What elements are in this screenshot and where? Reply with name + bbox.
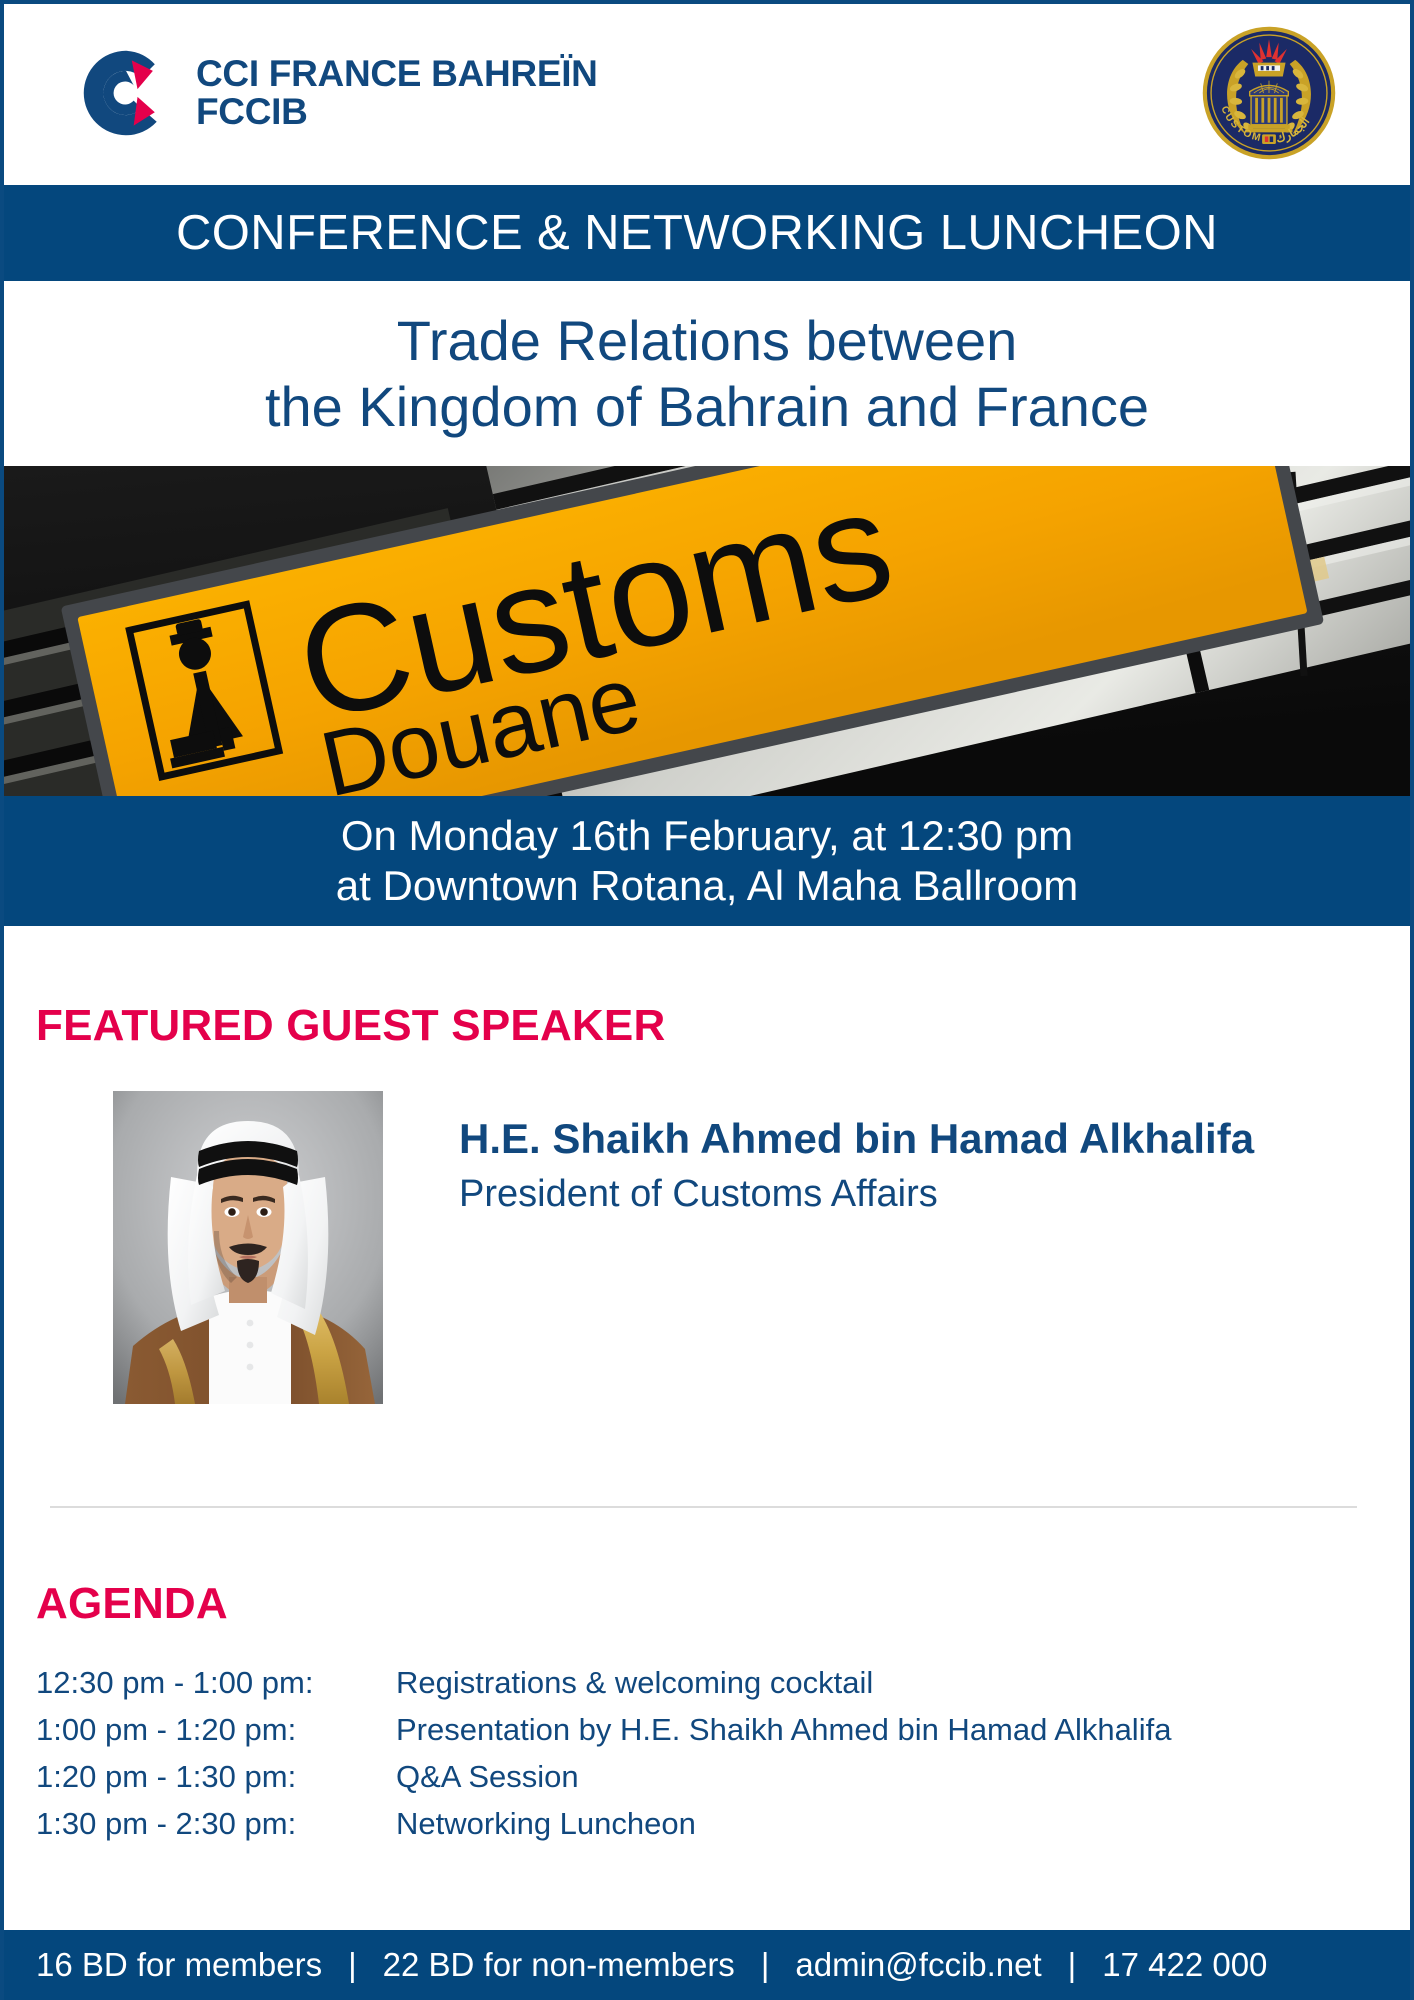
speaker-name: H.E. Shaikh Ahmed bin Hamad Alkhalifa — [459, 1113, 1254, 1166]
event-type-banner: CONFERENCE & NETWORKING LUNCHEON — [0, 185, 1414, 281]
agenda-item: 1:20 pm - 1:30 pm: Q&A Session — [36, 1753, 1171, 1800]
cci-logo-wordmark: CCI FRANCE BAHREÏN FCCIB — [196, 55, 598, 130]
featured-speaker-row: H.E. Shaikh Ahmed bin Hamad Alkhalifa Pr… — [0, 1091, 1414, 1404]
speaker-details: H.E. Shaikh Ahmed bin Hamad Alkhalifa Pr… — [459, 1091, 1254, 1223]
contact-email[interactable]: admin@fccib.net — [795, 1946, 1041, 1984]
bahrain-customs-seal: CUSTOMS الجمارك — [1200, 24, 1338, 162]
agenda-item: 12:30 pm - 1:00 pm: Registrations & welc… — [36, 1659, 1171, 1706]
title-line-1: Trade Relations between — [397, 308, 1018, 374]
speaker-role: President of Customs Affairs — [459, 1166, 1254, 1223]
footer-info: 16 BD for members | 22 BD for non-member… — [36, 1946, 1267, 1984]
venue-line: at Downtown Rotana, Al Maha Ballroom — [336, 861, 1078, 911]
agenda-item-time: 12:30 pm - 1:00 pm: — [36, 1659, 396, 1706]
agenda-item-time: 1:30 pm - 2:30 pm: — [36, 1800, 396, 1847]
cci-logo-line2: FCCIB — [196, 93, 598, 131]
price-non-members: 22 BD for non-members — [383, 1946, 735, 1984]
speaker-portrait — [113, 1091, 383, 1404]
section-divider — [50, 1506, 1357, 1508]
agenda-item-desc: Q&A Session — [396, 1753, 579, 1800]
footer-separator: | — [1042, 1946, 1103, 1984]
poster-body: FEATURED GUEST SPEAKER — [0, 926, 1414, 1930]
price-members: 16 BD for members — [36, 1946, 322, 1984]
agenda-item-time: 1:20 pm - 1:30 pm: — [36, 1753, 396, 1800]
bahrain-customs-seal-icon: CUSTOMS الجمارك — [1200, 24, 1338, 162]
footer-separator: | — [735, 1946, 796, 1984]
title-line-2: the Kingdom of Bahrain and France — [265, 374, 1149, 440]
contact-phone[interactable]: 17 422 000 — [1102, 1946, 1267, 1984]
footer-separator: | — [322, 1946, 383, 1984]
agenda-item-desc: Presentation by H.E. Shaikh Ahmed bin Ha… — [396, 1706, 1171, 1753]
agenda-list: 12:30 pm - 1:00 pm: Registrations & welc… — [36, 1659, 1171, 1847]
agenda-item-desc: Networking Luncheon — [396, 1800, 696, 1847]
cci-france-bahrein-logo: CCI FRANCE BAHREÏN FCCIB — [78, 45, 598, 141]
agenda-heading: AGENDA — [36, 1579, 228, 1629]
poster-footer: 16 BD for members | 22 BD for non-member… — [0, 1930, 1414, 2000]
customs-douane-airport-sign-photo: Customs Douane — [4, 466, 1410, 796]
agenda-item-time: 1:00 pm - 1:20 pm: — [36, 1706, 396, 1753]
event-type-label: CONFERENCE & NETWORKING LUNCHEON — [176, 205, 1218, 261]
poster-title: Trade Relations between the Kingdom of B… — [0, 281, 1414, 466]
date-line: On Monday 16th February, at 12:30 pm — [341, 811, 1073, 861]
poster-header: CCI FRANCE BAHREÏN FCCIB — [0, 0, 1414, 185]
cci-logo-icon — [78, 45, 174, 141]
agenda-item: 1:30 pm - 2:30 pm: Networking Luncheon — [36, 1800, 1171, 1847]
date-venue-banner: On Monday 16th February, at 12:30 pm at … — [0, 796, 1414, 926]
agenda-item-desc: Registrations & welcoming cocktail — [396, 1659, 873, 1706]
cci-logo-line1: CCI FRANCE BAHREÏN — [196, 55, 598, 93]
agenda-item: 1:00 pm - 1:20 pm: Presentation by H.E. … — [36, 1706, 1171, 1753]
event-poster: CCI FRANCE BAHREÏN FCCIB — [0, 0, 1414, 2000]
featured-speaker-heading: FEATURED GUEST SPEAKER — [36, 1001, 665, 1051]
